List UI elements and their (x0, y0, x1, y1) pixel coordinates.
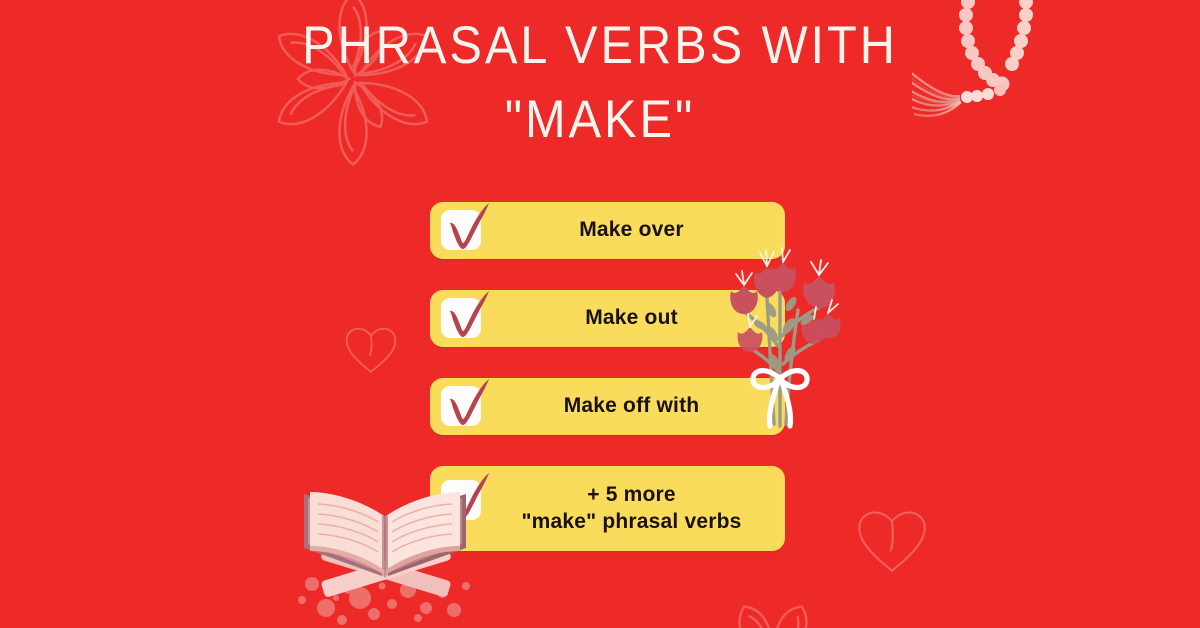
list-item-label-line-1: Make over (579, 218, 684, 241)
checklist: Make over Make out M (430, 202, 785, 551)
list-item[interactable]: + 5 more "make" phrasal verbs (430, 466, 785, 551)
check-icon (440, 287, 496, 343)
check-icon (440, 199, 496, 255)
list-item[interactable]: Make over (430, 202, 785, 259)
check-icon (440, 375, 496, 431)
checkbox-checked[interactable] (441, 480, 483, 522)
list-item[interactable]: Make out (430, 290, 785, 347)
list-item-label-line-1: Make out (585, 306, 678, 329)
list-item-label-line-1: + 5 more (587, 483, 676, 506)
heart-outline-doodle-icon (852, 500, 932, 580)
list-item[interactable]: Make off with (430, 378, 785, 435)
check-icon (440, 469, 496, 525)
list-item-label-line-2: "make" phrasal verbs (488, 509, 775, 536)
poster-canvas: Phrasal Verbs With "Make" Make over (0, 0, 1200, 628)
flower-outline-watermark-icon (688, 556, 858, 628)
list-item-label-line-1: Make off with (564, 394, 700, 417)
title-line-2: "Make" (48, 92, 1152, 148)
paint-splatter (298, 577, 470, 625)
checkbox-checked[interactable] (441, 386, 483, 428)
heart-outline-doodle-icon (340, 318, 402, 380)
checkbox-checked[interactable] (441, 210, 483, 252)
page-title: Phrasal Verbs With "Make" (0, 18, 1200, 147)
checkbox-checked[interactable] (441, 298, 483, 340)
title-line-1: Phrasal Verbs With (48, 18, 1152, 74)
